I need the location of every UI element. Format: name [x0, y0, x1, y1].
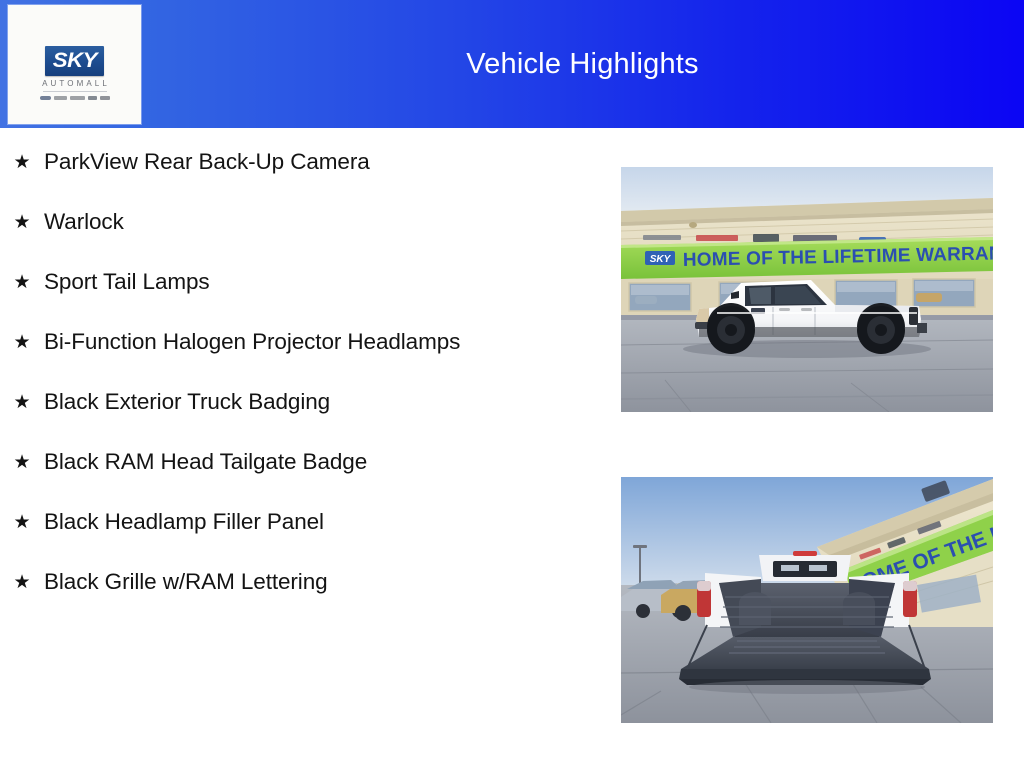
star-icon: ★ [13, 328, 31, 358]
brand-strip [8, 94, 141, 101]
vehicle-highlights-list: ★ ParkView Rear Back-Up Camera ★ Warlock… [0, 147, 600, 627]
vehicle-photo-truck-bed[interactable]: OME OF THE LIF [621, 477, 993, 723]
svg-text:SKY: SKY [650, 254, 672, 265]
list-item-label: Warlock [44, 207, 600, 237]
list-item: ★ Sport Tail Lamps [0, 267, 600, 297]
page-title: Vehicle Highlights [141, 44, 1024, 84]
list-item: ★ Black Grille w/RAM Lettering [0, 567, 600, 597]
list-item-label: Black RAM Head Tailgate Badge [44, 447, 600, 477]
list-item: ★ Black RAM Head Tailgate Badge [0, 447, 600, 477]
automall-label: AUTOMALL [8, 79, 141, 89]
list-item: ★ ParkView Rear Back-Up Camera [0, 147, 600, 177]
photo-truck-bed-art: OME OF THE LIF [621, 477, 993, 723]
chrysler-brand-icon [40, 96, 51, 100]
vehicle-photo-side-profile[interactable]: SKY HOME OF THE LIFETIME WARRANTY [621, 167, 993, 412]
star-icon: ★ [13, 388, 31, 418]
list-item-label: Black Grille w/RAM Lettering [44, 567, 600, 597]
list-item: ★ Bi-Function Halogen Projector Headlamp… [0, 327, 600, 357]
sky-logo-text: SKY [52, 50, 96, 71]
list-item-label: Black Headlamp Filler Panel [44, 507, 600, 537]
logo-divider [43, 91, 107, 92]
page-header: Vehicle Highlights [0, 0, 1024, 128]
list-item: ★ Warlock [0, 207, 600, 237]
dealer-logo-inner: SKY AUTOMALL [8, 46, 141, 101]
list-item-label: Sport Tail Lamps [44, 267, 600, 297]
star-icon: ★ [13, 448, 31, 478]
ram-brand-icon [88, 96, 97, 100]
list-item: ★ Black Headlamp Filler Panel [0, 507, 600, 537]
list-item-label: Bi-Function Halogen Projector Headlamps [44, 327, 600, 357]
star-icon: ★ [13, 148, 31, 178]
dodge-brand-icon [54, 96, 67, 100]
star-icon: ★ [13, 568, 31, 598]
sky-logo-box: SKY [45, 46, 105, 76]
list-item-label: ParkView Rear Back-Up Camera [44, 147, 600, 177]
star-icon: ★ [13, 268, 31, 298]
jeep-brand-icon [70, 96, 85, 100]
dealer-logo[interactable]: SKY AUTOMALL [8, 5, 141, 124]
sky-brand-icon [100, 96, 110, 100]
photo-side-profile-art: SKY HOME OF THE LIFETIME WARRANTY [621, 167, 993, 412]
list-item-label: Black Exterior Truck Badging [44, 387, 600, 417]
star-icon: ★ [13, 208, 31, 238]
star-icon: ★ [13, 508, 31, 538]
list-item: ★ Black Exterior Truck Badging [0, 387, 600, 417]
